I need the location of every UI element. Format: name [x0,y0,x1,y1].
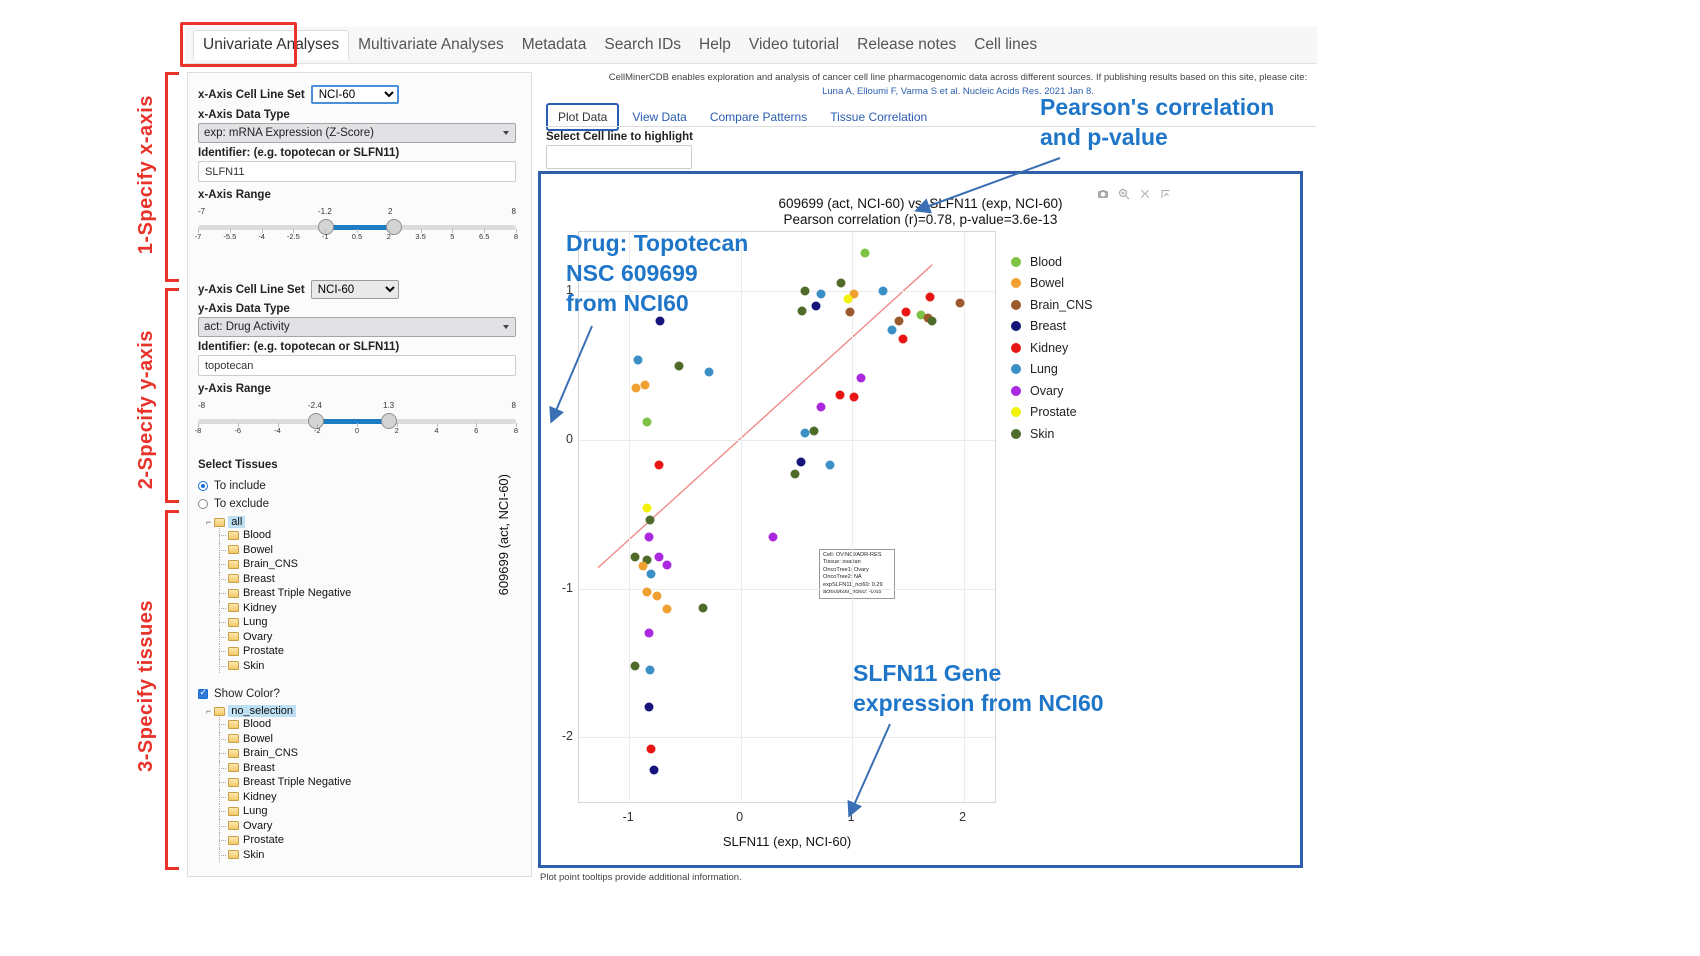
tree-item-label: Skin [243,849,264,861]
tree-item-bowel[interactable]: Bowel [228,543,351,558]
scatter-point[interactable] [825,461,834,470]
step1-label: 1-Specify x-axis [135,95,158,254]
scatter-point[interactable] [843,294,852,303]
slider-tick: 8 [514,426,518,435]
tree-root-no-selection-label: no_selection [228,705,296,717]
scatter-point[interactable] [801,428,810,437]
y-cellline-row: y-Axis Cell Line Set NCI-60 [198,280,399,299]
x-datatype-label: x-Axis Data Type [198,109,290,121]
nav-item-video-tutorial[interactable]: Video tutorial [740,31,848,59]
chevron-down-icon [503,131,509,135]
slider-tick: 8 [514,232,518,241]
legend-label: Ovary [1030,384,1063,398]
legend-label: Bowel [1030,276,1064,290]
camera-icon[interactable] [1097,188,1109,200]
scatter-point[interactable] [894,317,903,326]
slider-tick: 3.5 [415,232,425,241]
step3-label: 3-Specify tissues [135,600,158,772]
autoscale-icon[interactable] [1160,188,1172,200]
tree-item-label: Ovary [243,820,272,832]
folder-icon [228,792,239,801]
legend-item-prostate[interactable]: Prostate [1011,402,1093,424]
folder-icon [228,821,239,830]
scatter-point[interactable] [642,418,651,427]
slider-tick: 2 [387,232,391,241]
legend-item-kidney[interactable]: Kidney [1011,337,1093,359]
radio-include-icon [198,481,208,491]
y-tick-label: -2 [549,729,573,743]
expander-icon[interactable]: ⌐ [206,517,211,527]
nav-item-release-notes[interactable]: Release notes [848,31,965,59]
scatter-point[interactable] [647,745,656,754]
scatter-point[interactable] [791,470,800,479]
step3-bracket [165,510,179,870]
y-slider-high-value: 1.3 [383,401,394,410]
y-cellline-label: y-Axis Cell Line Set [198,284,305,296]
legend-label: Kidney [1030,341,1068,355]
scatter-point[interactable] [816,290,825,299]
folder-icon [228,778,239,787]
tree-item-ovary[interactable]: Ovary [228,630,351,645]
legend-item-bowel[interactable]: Bowel [1011,273,1093,295]
tree-item-label: Brain_CNS [243,747,298,759]
legend-label: Prostate [1030,405,1077,419]
scatter-point[interactable] [631,384,640,393]
radio-exclude[interactable]: To exclude [198,498,269,510]
y-range-max-end: 8 [512,401,516,410]
scatter-point[interactable] [812,302,821,311]
tree-item-label: Lung [243,616,267,628]
tree-item-label: Kidney [243,791,277,803]
x-identifier-label: Identifier: (e.g. topotecan or SLFN11) [198,147,399,159]
tissue-tree-exclude[interactable]: ⌐ no_selection BloodBowelBrain_CNSBreast… [206,705,351,862]
folder-icon [228,763,239,772]
legend-color-dot [1011,300,1021,310]
x-tick-label: 0 [736,810,743,824]
scatter-point[interactable] [901,308,910,317]
legend-label: Lung [1030,362,1058,376]
x-tick-label: 2 [959,810,966,824]
scatter-point[interactable] [663,605,672,614]
y-slider-fill [316,419,389,424]
y-datatype-label: y-Axis Data Type [198,303,290,315]
scatter-point[interactable] [816,403,825,412]
slider-tick: 5 [450,232,454,241]
x-cellline-row: x-Axis Cell Line Set NCI-60 [198,85,399,104]
slider-tick: 0.5 [352,232,362,241]
scatter-point[interactable] [646,666,655,675]
legend-color-dot [1011,364,1021,374]
scatter-point[interactable] [655,461,664,470]
tree-item-label: Breast [243,762,275,774]
tree-item-label: Brain_CNS [243,558,298,570]
tree-item-label: Blood [243,718,271,730]
x-slider-fill [326,225,394,230]
legend-color-dot [1011,278,1021,288]
slider-tick: -4 [274,426,281,435]
folder-icon [228,807,239,816]
legend-label: Blood [1030,255,1062,269]
scatter-point[interactable] [956,299,965,308]
folder-icon [228,749,239,758]
tree-item-bowel[interactable]: Bowel [228,732,351,747]
x-axis-title: SLFN11 (exp, NCI-60) [578,834,996,849]
tree-item-lung[interactable]: Lung [228,615,351,630]
scatter-point[interactable] [801,287,810,296]
slider-tick: -1 [322,232,329,241]
scatter-point[interactable] [797,306,806,315]
scatter-point[interactable] [645,703,654,712]
slider-tick: -2.5 [287,232,300,241]
footnote: Plot point tooltips provide additional i… [540,872,742,883]
pan-icon[interactable] [1139,188,1151,200]
tree-item-ovary[interactable]: Ovary [228,819,351,834]
callout-drug: Drug: Topotecan NSC 609699 from NCI60 [566,228,748,318]
slider-tick: 6.5 [479,232,489,241]
tooltip-oncotree1: OncoTree1: Ovary [823,567,891,574]
y-range-min-end: -8 [198,401,205,410]
tree-item-label: Kidney [243,602,277,614]
legend-item-ovary[interactable]: Ovary [1011,380,1093,402]
folder-icon [228,603,239,612]
scatter-point[interactable] [850,392,859,401]
y-gridline [579,440,995,441]
scatter-point[interactable] [640,381,649,390]
folder-icon [214,707,225,716]
x-identifier-input[interactable]: SLFN11 [198,161,516,182]
legend-label: Breast [1030,319,1066,333]
tooltip-cell: Cell: OV:NCI/ADR-RES [823,552,891,559]
scatter-point[interactable] [705,367,714,376]
tree-item-label: Skin [243,660,264,672]
scatter-point[interactable] [861,248,870,257]
tree-item-label: Blood [243,529,271,541]
tree-item-label: Breast [243,573,275,585]
scatter-point[interactable] [645,629,654,638]
callout-pearson: Pearson's correlation and p-value [1040,92,1274,152]
folder-icon [228,720,239,729]
tree-item-prostate[interactable]: Prostate [228,833,351,848]
scatter-point[interactable] [835,391,844,400]
legend-color-dot [1011,429,1021,439]
y-tick-label: -1 [549,581,573,595]
x-identifier-value: SLFN11 [205,166,245,178]
x-cellline-select[interactable]: NCI-60 [311,85,399,104]
tree-item-lung[interactable]: Lung [228,804,351,819]
scatter-point[interactable] [675,361,684,370]
legend-label: Brain_CNS [1030,298,1093,312]
slider-tick: 4 [434,426,438,435]
tree-item-kidney[interactable]: Kidney [228,790,351,805]
folder-icon [228,560,239,569]
tooltip-oncotree2: OncoTree2: NA [823,574,891,581]
show-color-row[interactable]: Show Color? [198,688,280,700]
tooltip-tissue: Tissue: ovarian [823,559,891,566]
scatter-point[interactable] [649,765,658,774]
y-axis-title: 609699 (act, NCI-60) [496,474,656,595]
show-color-label: Show Color? [214,688,280,700]
legend-item-lung[interactable]: Lung [1011,359,1093,381]
radio-exclude-label: To exclude [214,498,269,510]
legend-color-dot [1011,257,1021,267]
slider-tick: 6 [474,426,478,435]
x-range-min-end: -7 [198,207,205,216]
x-tick-label: -1 [623,810,634,824]
control-panel: x-Axis Cell Line Set NCI-60 x-Axis Data … [187,72,532,877]
show-color-checkbox[interactable] [198,689,208,699]
tree-item-label: Bowel [243,544,273,556]
x-slider-ticks: -7-5.5-4-2.5-10.523.556.58 [198,232,516,248]
tree-item-label: Prostate [243,834,284,846]
legend-color-dot [1011,407,1021,417]
y-identifier-label: Identifier: (e.g. topotecan or SLFN11) [198,341,399,353]
tree-item-kidney[interactable]: Kidney [228,601,351,616]
legend-item-brain_cns[interactable]: Brain_CNS [1011,294,1093,316]
scatter-point[interactable] [634,355,643,364]
callout-drug-arrow [530,320,610,440]
tree-item-label: Prostate [243,645,284,657]
tree-root-all-label: all [228,516,245,528]
y-datatype-value: act: Drug Activity [204,321,290,333]
y-gridline [579,737,995,738]
legend-item-skin[interactable]: Skin [1011,423,1093,445]
y-slider-ticks: -8-6-4-202468 [198,426,516,442]
y-range-label: y-Axis Range [198,383,271,395]
legend-label: Skin [1030,427,1054,441]
highlight-cellline-label: Select Cell line to highlight [546,131,693,143]
tree-item-breast[interactable]: Breast [228,572,351,587]
tree-item-blood[interactable]: Blood [228,717,351,732]
folder-icon [228,647,239,656]
tree-item-label: Breast Triple Negative [243,776,351,788]
x-cellline-label: x-Axis Cell Line Set [198,89,305,101]
slider-tick: -6 [234,426,241,435]
y-slider-low-value: -2.4 [308,401,322,410]
y-identifier-value: topotecan [205,360,253,372]
y-identifier-input[interactable]: topotecan [198,355,516,376]
scatter-point[interactable] [899,334,908,343]
folder-icon [228,618,239,627]
main-nav: Univariate AnalysesMultivariate Analyses… [185,27,1317,64]
y-cellline-select[interactable]: NCI-60 [311,280,399,299]
legend-item-blood[interactable]: Blood [1011,251,1093,273]
tree-item-label: Ovary [243,631,272,643]
nav-item-help[interactable]: Help [690,31,740,59]
nav-item-metadata[interactable]: Metadata [513,31,596,59]
radio-exclude-icon [198,499,208,509]
x-range-label: x-Axis Range [198,189,271,201]
tree-root-all[interactable]: ⌐ all [206,516,351,528]
slider-tick: -5.5 [223,232,236,241]
nav-item-cell-lines[interactable]: Cell lines [965,31,1046,59]
step2-bracket [165,288,179,503]
folder-icon [228,734,239,743]
legend-item-breast[interactable]: Breast [1011,316,1093,338]
slider-tick: -4 [258,232,265,241]
callout-gene-arrow [830,718,910,823]
tree-item-label: Breast Triple Negative [243,587,351,599]
x-slider-high-value: 2 [388,207,392,216]
expander-icon[interactable]: ⌐ [206,706,211,716]
point-tooltip: Cell: OV:NCI/ADR-RES Tissue: ovarian Onc… [819,549,895,599]
folder-icon [228,836,239,845]
scatter-point[interactable] [928,317,937,326]
tree-item-blood[interactable]: Blood [228,528,351,543]
x-datatype-value: exp: mRNA Expression (Z-Score) [204,127,374,139]
folder-icon [228,545,239,554]
radio-include[interactable]: To include [198,480,266,492]
folder-icon [228,661,239,670]
scatter-point[interactable] [698,603,707,612]
step1-bracket [165,72,179,282]
slider-tick: 0 [355,426,359,435]
y-datatype-select[interactable]: act: Drug Activity [198,317,516,337]
legend-color-dot [1011,321,1021,331]
tree-item-skin[interactable]: Skin [228,848,351,863]
scatter-point[interactable] [845,308,854,317]
select-tissues-label: Select Tissues [198,459,278,471]
scatter-point[interactable] [796,458,805,467]
tree-item-breast-triple-negative[interactable]: Breast Triple Negative [228,775,351,790]
tree-item-brain_cns[interactable]: Brain_CNS [228,746,351,761]
legend-color-dot [1011,343,1021,353]
callout-gene: SLFN11 Gene expression from NCI60 [853,658,1104,718]
tree-item-breast-triple-negative[interactable]: Breast Triple Negative [228,586,351,601]
tree-item-label: Lung [243,805,267,817]
x-slider-low-value: -1.2 [318,207,332,216]
scatter-point[interactable] [926,293,935,302]
tooltip-act: act609699_nci60: -0.65 [823,589,891,596]
folder-icon [228,589,239,598]
y-range-slider[interactable]: -8 8 -2.4 1.3 -8-6-4-202468 [198,397,516,443]
nav-item-multivariate-analyses[interactable]: Multivariate Analyses [349,31,513,59]
folder-icon [228,850,239,859]
scatter-point[interactable] [768,532,777,541]
tree-include-children: BloodBowelBrain_CNSBreastBreast Triple N… [206,528,351,673]
scatter-point[interactable] [836,278,845,287]
tree-item-skin[interactable]: Skin [228,659,351,674]
callout-pearson-arrow [900,150,1080,230]
nav-item-univariate-analyses[interactable]: Univariate Analyses [193,30,349,60]
scatter-point[interactable] [630,661,639,670]
plotly-modebar[interactable] [1097,188,1172,200]
tissue-legend[interactable]: BloodBowelBrain_CNSBreastKidneyLungOvary… [1011,251,1093,445]
nav-item-search-ids[interactable]: Search IDs [595,31,690,59]
folder-icon [214,518,225,527]
scatter-point[interactable] [879,287,888,296]
tissue-tree-include[interactable]: ⌐ all BloodBowelBrain_CNSBreastBreast Tr… [206,516,351,673]
slider-tick: -8 [195,426,202,435]
scatter-point[interactable] [857,373,866,382]
scatter-point[interactable] [663,560,672,569]
tree-item-label: Bowel [243,733,273,745]
tree-item-brain_cns[interactable]: Brain_CNS [228,557,351,572]
tree-item-breast[interactable]: Breast [228,761,351,776]
slider-tick: 2 [395,426,399,435]
highlight-cellline-input[interactable] [546,145,692,169]
step2-label: 2-Specify y-axis [135,330,158,489]
slider-tick: -2 [314,426,321,435]
zoom-in-icon[interactable] [1118,188,1130,200]
scatter-point[interactable] [810,427,819,436]
slider-tick: -7 [195,232,202,241]
tree-root-no-selection[interactable]: ⌐ no_selection [206,705,351,717]
citation-line-1: CellMinerCDB enables exploration and ana… [603,72,1313,83]
radio-include-label: To include [214,480,266,492]
scatter-point[interactable] [655,553,664,562]
x-datatype-select[interactable]: exp: mRNA Expression (Z-Score) [198,123,516,143]
legend-color-dot [1011,386,1021,396]
folder-icon [228,632,239,641]
scatter-point[interactable] [888,326,897,335]
x-range-slider[interactable]: -7 8 -1.2 2 -7-5.5-4-2.5-10.523.556.58 [198,203,516,249]
chevron-down-icon [503,325,509,329]
folder-icon [228,531,239,540]
folder-icon [228,574,239,583]
tree-item-prostate[interactable]: Prostate [228,644,351,659]
x-range-max-end: 8 [512,207,516,216]
tree-exclude-children: BloodBowelBrain_CNSBreastBreast Triple N… [206,717,351,862]
